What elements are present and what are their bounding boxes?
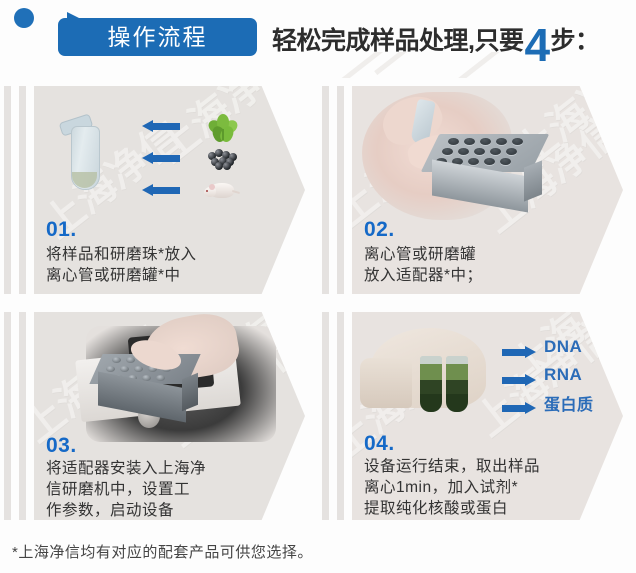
step-panel: 上海净信 上海净信 上海净信 DNA RNA [352, 312, 623, 520]
step-panel: 上海净信 上海净信 [34, 86, 305, 294]
stripe-decoration [4, 86, 11, 294]
step-panel: 上海净信 上海净信 上海净信 02. 离心管或 [352, 86, 623, 294]
step-number: 01. [46, 218, 77, 242]
arrow-left-icon [142, 120, 180, 132]
footer-note: *上海净信均有对应的配套产品可供您选择。 [12, 540, 432, 566]
decorative-dot [14, 8, 34, 28]
centrifuge-tube-icon [60, 112, 106, 190]
page-title-part2: 步： [551, 21, 600, 60]
stripe-decoration [19, 312, 26, 520]
page-title: 轻松完成样品处理,只要 4 步： [272, 14, 632, 60]
arrow-right-icon [502, 345, 536, 357]
step-number: 03. [46, 434, 77, 458]
arrow-right-icon [502, 373, 536, 385]
banner-label: 操作流程 [58, 18, 257, 56]
output-row-protein: 蛋白质 [502, 392, 594, 414]
mouse-icon [204, 178, 238, 200]
step-card-04: 上海净信 上海净信 上海净信 DNA RNA [318, 304, 636, 530]
step-description: 设备运行结束，取出样品 离心1min，加入试剂* 提取纯化核酸或蛋白 [364, 456, 612, 519]
section-banner: 操作流程 [58, 12, 257, 56]
stripe-decoration [19, 86, 26, 294]
output-label: DNA [544, 337, 582, 357]
step-description: 将样品和研磨珠*放入 离心管或研磨罐*中 [46, 244, 286, 286]
arrow-right-icon [502, 401, 536, 413]
output-label: RNA [544, 365, 582, 385]
stripe-decoration [337, 312, 344, 520]
stripe-decoration [337, 86, 344, 294]
stripe-decoration [322, 312, 329, 520]
leaf-icon [208, 112, 238, 140]
step-card-01: 上海净信 上海净信 [0, 78, 318, 304]
step-description: 离心管或研磨罐 放入适配器*中； [364, 244, 604, 286]
step-description: 将适配器安装入上海净 信研磨机中，设置工 作参数，启动设备 [46, 458, 282, 520]
arrow-left-icon [142, 184, 180, 196]
output-label: 蛋白质 [544, 391, 594, 415]
stripe-decoration [4, 312, 11, 520]
arrow-left-icon [142, 152, 180, 164]
glove-cuff [360, 358, 412, 408]
sample-arrow-row [142, 148, 292, 168]
step-number: 04. [364, 432, 395, 456]
sample-tube-icon [446, 356, 468, 412]
step-number: 02. [364, 218, 395, 242]
adapter-block-icon [430, 134, 548, 210]
grinding-beads-icon [206, 146, 240, 168]
page-title-number: 4 [523, 25, 550, 65]
sample-arrow-row [142, 180, 292, 200]
step-card-03: 上海净信 上海净信 上海净信 03 [0, 304, 318, 530]
step-card-02: 上海净信 上海净信 上海净信 02. 离心管或 [318, 78, 636, 304]
step-panel: 上海净信 上海净信 上海净信 03 [34, 312, 305, 520]
stripe-decoration [322, 86, 329, 294]
output-row-rna: RNA [502, 364, 582, 386]
page-header: 操作流程 轻松完成样品处理,只要 4 步： [0, 0, 636, 72]
output-row-dna: DNA [502, 336, 582, 358]
sample-tube-icon [420, 356, 442, 412]
page-title-part1: 轻松完成样品处理,只要 [272, 21, 523, 60]
sample-arrow-row [142, 116, 292, 136]
